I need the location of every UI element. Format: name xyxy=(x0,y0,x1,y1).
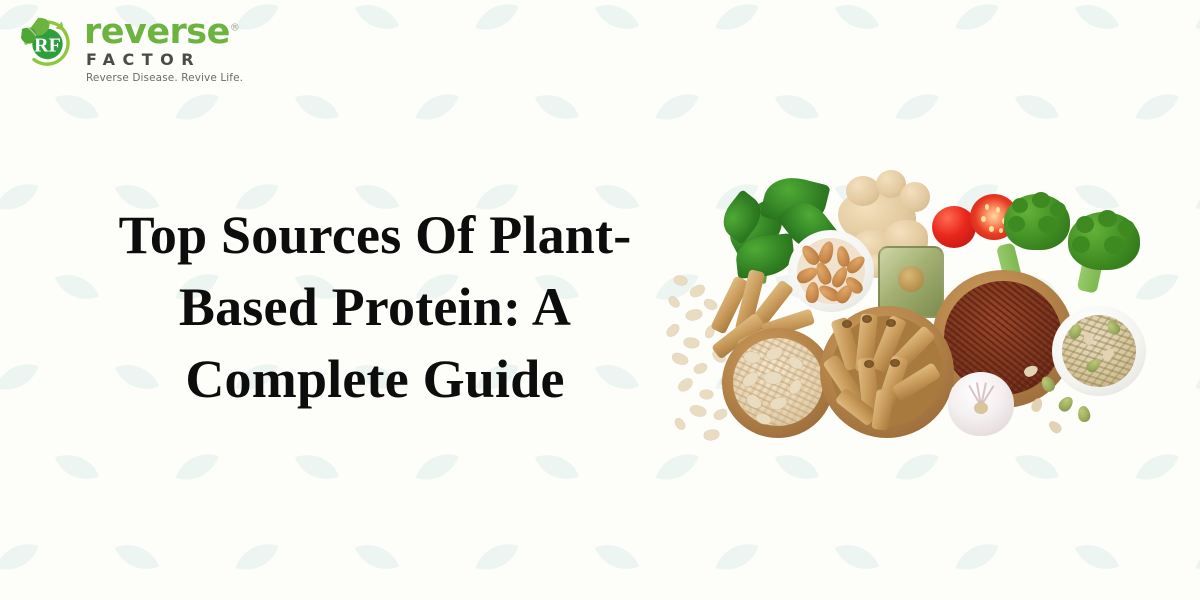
brand-logo[interactable]: RF reverse® FACTOR Reverse Disease. Revi… xyxy=(16,12,243,84)
leaf-watermark-icon xyxy=(535,85,579,129)
leaf-watermark-icon xyxy=(775,85,819,129)
leaf-watermark-icon xyxy=(55,85,99,129)
leaf-watermark-icon xyxy=(0,536,38,579)
spilled-sunflower-seed xyxy=(1046,419,1063,436)
leaf-watermark-icon xyxy=(1015,85,1059,129)
leaf-watermark-icon xyxy=(1075,0,1119,39)
oat-flake xyxy=(703,297,719,312)
hero-food-image xyxy=(660,158,1180,458)
oat-flake xyxy=(699,389,713,400)
leaf-watermark-icon xyxy=(1196,176,1200,219)
oat-flake xyxy=(685,309,702,321)
leaf-watermark-icon xyxy=(535,445,579,489)
oat-flake xyxy=(713,408,728,421)
leaf-watermark-icon xyxy=(176,446,219,489)
leaf-watermark-icon xyxy=(1075,535,1119,579)
leaf-watermark-icon xyxy=(236,536,279,579)
brand-name-primary: reverse® xyxy=(84,16,243,48)
brand-name-secondary: FACTOR xyxy=(86,50,243,69)
leaf-watermark-icon xyxy=(595,535,639,579)
leaf-watermark-icon xyxy=(476,536,519,579)
leaf-watermark-icon xyxy=(716,536,759,579)
oat-flake xyxy=(693,362,708,374)
garlic-bulb xyxy=(948,372,1014,436)
leaf-watermark-icon xyxy=(295,445,339,489)
leaf-watermark-icon xyxy=(956,0,999,38)
leaf-watermark-icon xyxy=(1196,356,1200,399)
leaf-watermark-icon xyxy=(1196,0,1200,38)
oat-flake xyxy=(674,417,687,431)
leaf-watermark-icon xyxy=(0,176,38,219)
page-title: Top Sources Of Plant-Based Protein: A Co… xyxy=(70,200,680,415)
logo-wordmark: reverse® FACTOR Reverse Disease. Revive … xyxy=(84,12,243,84)
leaf-watermark-icon xyxy=(835,0,879,39)
registered-trademark-icon: ® xyxy=(230,22,240,33)
svg-text:RF: RF xyxy=(34,35,61,57)
oat-flake xyxy=(689,283,707,298)
leaf-watermark-icon xyxy=(656,86,699,129)
leaf-watermark-icon xyxy=(416,446,459,489)
leaf-watermark-icon xyxy=(716,0,759,38)
spilled-pumpkin-seed xyxy=(1056,394,1075,414)
leaf-watermark-icon xyxy=(956,536,999,579)
oat-flake xyxy=(704,429,720,440)
brand-tagline: Reverse Disease. Revive Life. xyxy=(86,72,243,84)
leaf-watermark-icon xyxy=(295,85,339,129)
leaf-watermark-icon xyxy=(355,0,399,39)
spilled-pumpkin-seed xyxy=(1077,405,1092,423)
blog-banner: RF reverse® FACTOR Reverse Disease. Revi… xyxy=(0,0,1200,600)
leaf-watermark-icon xyxy=(476,0,519,38)
oat-flake xyxy=(683,337,700,350)
oat-flake xyxy=(689,403,708,418)
leaf-watermark-icon xyxy=(896,86,939,129)
leaf-circle-rf-monogram-icon: RF xyxy=(16,12,78,74)
leaf-watermark-icon xyxy=(55,445,99,489)
leaf-watermark-icon xyxy=(0,356,38,399)
leaf-watermark-icon xyxy=(115,535,159,579)
leaf-watermark-icon xyxy=(355,535,399,579)
leaf-watermark-icon xyxy=(595,0,639,39)
leaf-watermark-icon xyxy=(1136,86,1179,129)
leaf-watermark-icon xyxy=(1196,536,1200,579)
leaf-watermark-icon xyxy=(835,535,879,579)
leaf-watermark-icon xyxy=(416,86,459,129)
leaf-watermark-icon xyxy=(176,86,219,129)
